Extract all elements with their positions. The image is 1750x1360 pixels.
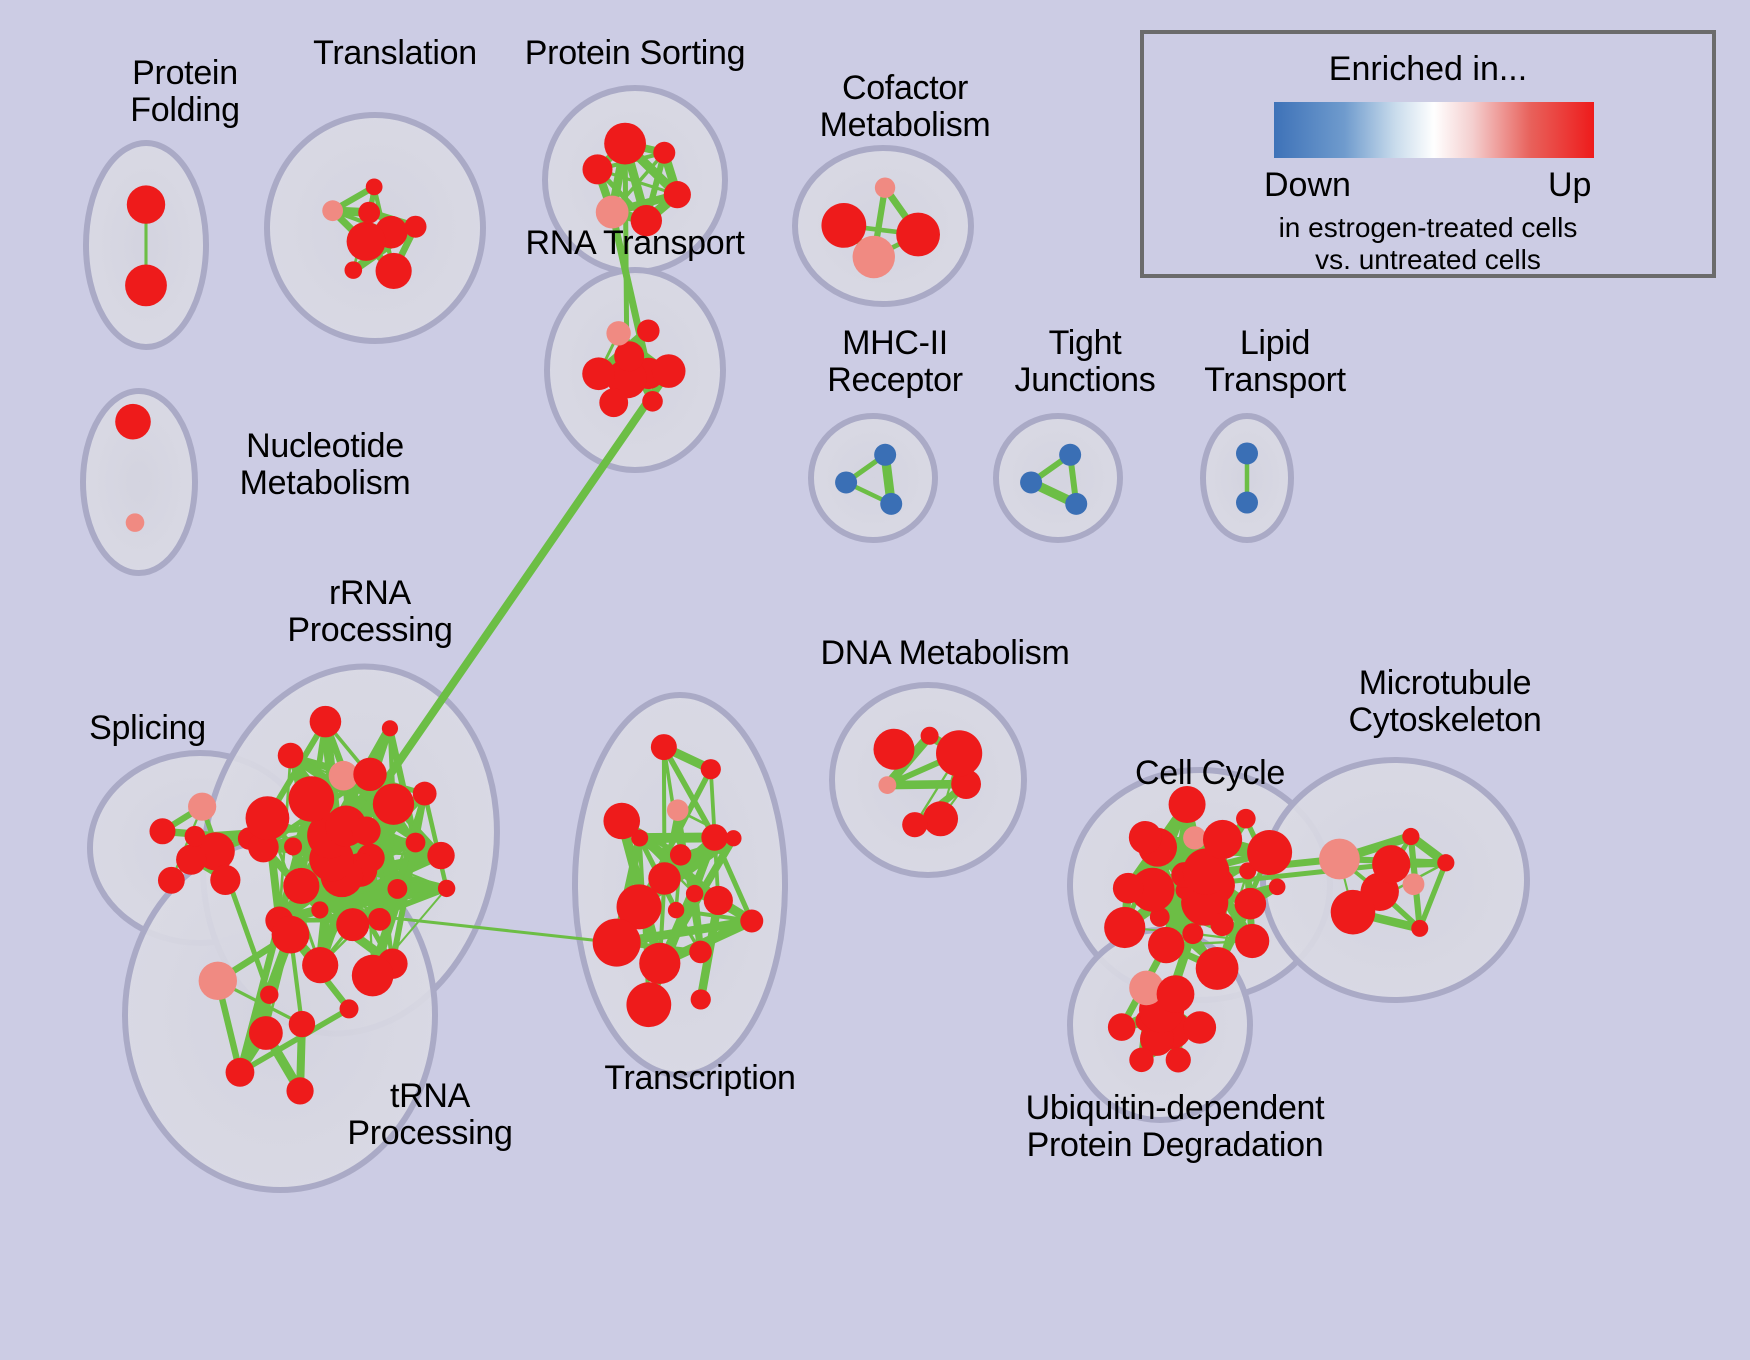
network-node (1184, 1011, 1217, 1044)
network-node (1437, 854, 1454, 871)
cluster-hull-mhc-ii-receptor (811, 416, 935, 540)
network-node (701, 759, 721, 779)
network-node (1331, 890, 1376, 935)
network-node (1319, 839, 1360, 880)
network-node (427, 842, 454, 869)
network-node (668, 902, 684, 918)
network-node (821, 203, 866, 248)
network-node (896, 213, 940, 257)
cluster-label-mhc-ii-receptor: MHC-II Receptor (790, 325, 1000, 398)
network-node (413, 782, 437, 806)
network-node (347, 222, 386, 261)
network-node (664, 181, 691, 208)
network-node (878, 776, 896, 794)
network-node (936, 730, 982, 776)
network-node (1235, 924, 1269, 958)
network-node (185, 826, 206, 847)
network-edge (301, 886, 446, 888)
network-node (740, 909, 763, 932)
cluster-label-microtubule-cytoskeleton: Microtubule Cytoskeleton (1300, 665, 1590, 738)
network-node (853, 236, 895, 278)
network-node (310, 706, 342, 738)
cluster-label-rrna-processing: rRNA Processing (250, 575, 490, 648)
color-scale-gradient (1274, 102, 1594, 158)
network-node (345, 261, 363, 279)
network-node (704, 886, 733, 915)
network-node (1210, 913, 1233, 936)
cluster-label-transcription: Transcription (560, 1060, 840, 1097)
network-node (387, 879, 407, 899)
network-node (246, 796, 290, 840)
cluster-label-rna-transport: RNA Transport (495, 225, 775, 262)
network-node (260, 986, 278, 1004)
cluster-hull-dna-metabolism (832, 685, 1024, 875)
network-node (289, 1011, 315, 1037)
legend-caption-line1: in estrogen-treated cells (1279, 212, 1578, 243)
network-node (284, 837, 302, 855)
network-node (358, 202, 380, 224)
cluster-label-tight-junctions: Tight Junctions (985, 325, 1185, 398)
network-node (352, 816, 381, 845)
legend-caption: in estrogen-treated cellsvs. untreated c… (1144, 212, 1712, 276)
network-node (1372, 845, 1410, 883)
network-node (835, 471, 857, 493)
network-node (126, 513, 145, 532)
network-node (1108, 1013, 1136, 1041)
network-node (1203, 820, 1242, 859)
network-node (158, 867, 185, 894)
network-node (1129, 821, 1162, 854)
network-node (1411, 920, 1428, 937)
network-node (1104, 907, 1145, 948)
network-node (340, 999, 359, 1018)
network-node (642, 391, 663, 412)
cluster-label-protein-folding: Protein Folding (80, 55, 290, 128)
network-node (599, 388, 628, 417)
network-node (1020, 471, 1042, 493)
network-node (923, 801, 958, 836)
cluster-label-translation: Translation (270, 35, 520, 72)
network-node (353, 758, 386, 791)
network-node (1065, 493, 1087, 515)
network-node (249, 1016, 283, 1050)
network-node (701, 824, 728, 851)
network-node (880, 493, 902, 515)
legend-box: Enriched in... Down Up in estrogen-treat… (1140, 30, 1716, 278)
network-node (582, 154, 612, 184)
cluster-label-cofactor-metabolism: Cofactor Metabolism (780, 70, 1030, 143)
network-node (366, 178, 383, 195)
network-node (382, 720, 398, 736)
network-node (368, 908, 391, 931)
network-node (1196, 947, 1239, 990)
network-node (311, 901, 328, 918)
network-node (438, 880, 455, 897)
network-node (406, 833, 426, 853)
network-node (874, 444, 896, 466)
network-node (1129, 1048, 1153, 1072)
cluster-label-ubiquitin-protein-degradation: Ubiquitin-dependent Protein Degradation (975, 1090, 1375, 1163)
network-node (1236, 492, 1258, 514)
network-node (691, 989, 711, 1009)
network-node (226, 1058, 255, 1087)
network-node (639, 943, 680, 984)
network-node (125, 264, 167, 306)
network-node (670, 844, 691, 865)
cluster-label-splicing: Splicing (55, 710, 240, 747)
network-node (302, 947, 338, 983)
legend-down-label: Down (1264, 166, 1351, 205)
network-node (199, 962, 237, 1000)
network-node (921, 727, 939, 745)
cluster-label-trna-processing: tRNA Processing (310, 1078, 550, 1151)
network-node (593, 919, 641, 967)
network-node (176, 845, 206, 875)
network-node (1236, 809, 1256, 829)
network-node (272, 916, 310, 954)
network-node (606, 321, 630, 345)
cluster-label-lipid-transport: Lipid Transport (1175, 325, 1375, 398)
network-node (1403, 873, 1425, 895)
cluster-label-protein-sorting: Protein Sorting (495, 35, 775, 72)
network-node (1247, 830, 1292, 875)
network-node (283, 868, 319, 904)
network-node (1402, 828, 1419, 845)
network-node (1236, 442, 1258, 464)
network-node (1182, 923, 1203, 944)
network-node (651, 734, 677, 760)
network-node (604, 123, 646, 165)
network-node (127, 185, 165, 223)
network-node (582, 357, 615, 390)
network-node (875, 177, 895, 197)
network-node (405, 216, 427, 238)
legend-up-label: Up (1548, 166, 1591, 205)
network-node (1157, 975, 1195, 1013)
network-node (1235, 888, 1267, 920)
legend-caption-line2: vs. untreated cells (1315, 244, 1541, 275)
network-node (1113, 873, 1144, 904)
network-node (652, 354, 686, 388)
network-node (1183, 826, 1206, 849)
network-node (725, 830, 741, 846)
network-node (1059, 444, 1081, 466)
network-node (667, 799, 689, 821)
network-node (188, 793, 216, 821)
network-node (373, 783, 414, 824)
network-node (115, 404, 151, 440)
network-node (1148, 927, 1184, 963)
network-node (689, 941, 712, 964)
network-figure: Protein FoldingTranslationProtein Sortin… (0, 0, 1750, 1360)
network-node (902, 812, 927, 837)
network-node (653, 142, 675, 164)
legend-title: Enriched in... (1144, 50, 1712, 89)
network-node (336, 908, 369, 941)
network-node (637, 319, 660, 342)
cluster-label-dna-metabolism: DNA Metabolism (800, 635, 1090, 672)
cluster-hull-cofactor-metabolism (795, 148, 971, 304)
network-node (376, 253, 412, 289)
network-node (289, 776, 335, 822)
network-node (278, 743, 304, 769)
cluster-label-nucleotide-metabolism: Nucleotide Metabolism (195, 428, 455, 501)
network-node (210, 865, 240, 895)
network-node (149, 818, 175, 844)
network-node (322, 200, 343, 221)
cluster-label-cell-cycle: Cell Cycle (1100, 755, 1320, 792)
cluster-hull-tight-junctions (996, 416, 1120, 540)
network-node (614, 341, 644, 371)
network-node (1269, 879, 1286, 896)
network-node (873, 729, 914, 770)
network-node (626, 982, 671, 1027)
network-node (603, 803, 640, 840)
network-node (686, 885, 703, 902)
network-node (352, 955, 394, 997)
network-node (1166, 1047, 1191, 1072)
